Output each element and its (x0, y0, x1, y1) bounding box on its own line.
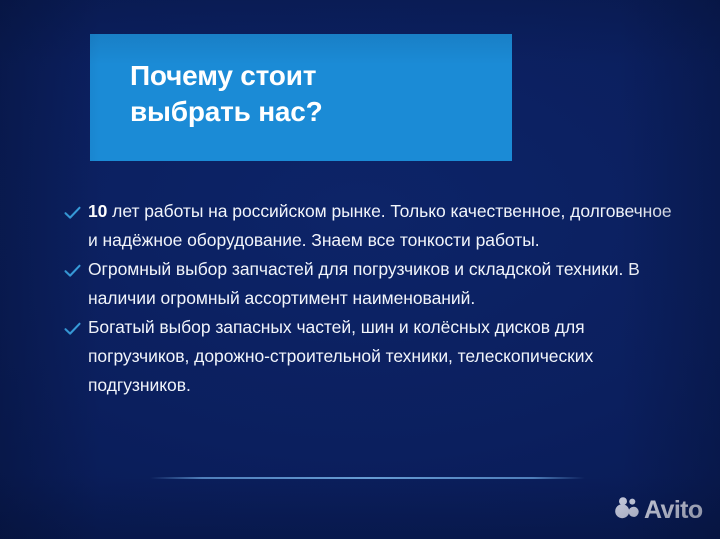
list-item-text: 10 лет работы на российском рынке. Тольк… (88, 197, 674, 255)
list-item: Огромный выбор запчастей для погрузчиков… (64, 255, 674, 313)
slide-canvas: Почему стоит выбрать нас? 10 лет работы … (0, 0, 720, 539)
page-title-line-1: Почему стоит (130, 58, 512, 94)
list-item: Богатый выбор запасных частей, шин и кол… (64, 313, 674, 400)
avito-wordmark: Avito (644, 498, 703, 523)
list-item: 10 лет работы на российском рынке. Тольк… (64, 197, 674, 255)
list-item-body: Богатый выбор запасных частей, шин и кол… (88, 317, 593, 395)
benefits-list: 10 лет работы на российском рынке. Тольк… (64, 197, 674, 400)
list-item-lead: 10 (88, 201, 107, 221)
check-icon (64, 255, 88, 285)
avito-watermark: Avito (614, 497, 703, 524)
avito-dots-icon (614, 497, 640, 524)
list-item-text: Богатый выбор запасных частей, шин и кол… (88, 313, 674, 400)
page-title-line-2: выбрать нас? (130, 94, 512, 130)
section-divider (150, 477, 585, 479)
list-item-text: Огромный выбор запчастей для погрузчиков… (88, 255, 674, 313)
title-banner: Почему стоит выбрать нас? (90, 34, 512, 161)
list-item-body: Огромный выбор запчастей для погрузчиков… (88, 259, 640, 308)
check-icon (64, 197, 88, 227)
list-item-body: лет работы на российском рынке. Только к… (88, 201, 672, 250)
check-icon (64, 313, 88, 343)
